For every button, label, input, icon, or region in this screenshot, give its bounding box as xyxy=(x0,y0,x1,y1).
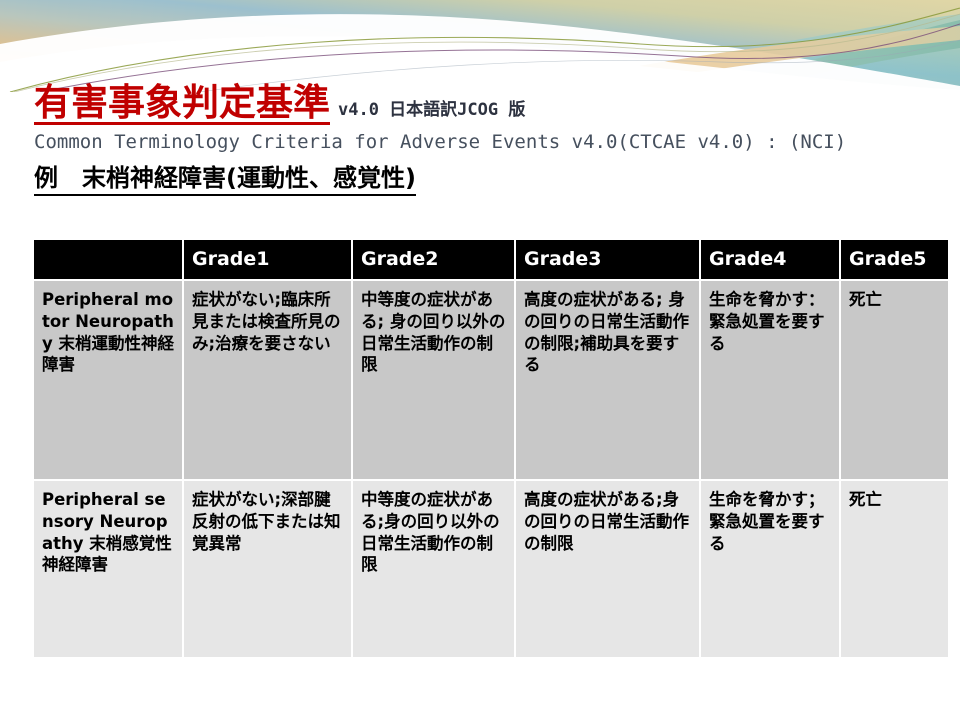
ctcae-grade-table: Grade1 Grade2 Grade3 Grade4 Grade5 Perip… xyxy=(34,240,948,659)
cell-grade3: 高度の症状がある; 身の回りの日常生活動作の制限;補助具を要する xyxy=(515,280,700,480)
term-name-text: Peripheral sensory Neuropathy 末梢感覚性神経障害 xyxy=(42,489,175,576)
cell-term-name: Peripheral motor Neuropathy 末梢運動性神経障害 xyxy=(34,280,183,480)
grade5-text: 死亡 xyxy=(849,489,941,511)
column-header-term xyxy=(34,240,183,280)
grade3-text: 高度の症状がある;身の回りの日常生活動作の制限 xyxy=(524,489,692,554)
grade1-text: 症状がない;深部腱反射の低下または知覚異常 xyxy=(192,489,344,554)
grade2-text: 中等度の症状がある;身の回り以外の日常生活動作の制限 xyxy=(361,489,507,576)
page-title: 有害事象判定基準 xyxy=(34,84,330,125)
grade3-text: 高度の症状がある; 身の回りの日常生活動作の制限;補助具を要する xyxy=(524,289,692,376)
cell-grade4: 生命を脅かす； 緊急処置を要する xyxy=(700,480,840,658)
term-name-text: Peripheral motor Neuropathy 末梢運動性神経障害 xyxy=(42,289,175,376)
grade5-text: 死亡 xyxy=(849,289,941,311)
column-header-grade5: Grade5 xyxy=(840,240,948,280)
title-version-label: v4.0 日本語訳JCOG 版 xyxy=(338,100,525,120)
example-heading: 例 末梢神経障害(運動性、感覚性) xyxy=(34,158,416,196)
table-row: Peripheral sensory Neuropathy 末梢感覚性神経障害 … xyxy=(34,480,948,658)
cell-grade1: 症状がない;深部腱反射の低下または知覚異常 xyxy=(183,480,352,658)
table-header-row: Grade1 Grade2 Grade3 Grade4 Grade5 xyxy=(34,240,948,280)
column-header-grade3: Grade3 xyxy=(515,240,700,280)
decorative-header-banner xyxy=(0,0,960,92)
slide-title-block: 有害事象判定基準v4.0 日本語訳JCOG 版 Common Terminolo… xyxy=(34,84,934,196)
grade4-text: 生命を脅かす； 緊急処置を要する xyxy=(709,489,832,554)
cell-term-name: Peripheral sensory Neuropathy 末梢感覚性神経障害 xyxy=(34,480,183,658)
grade4-text: 生命を脅かす：緊急処置を要する xyxy=(709,289,832,354)
subtitle-english: Common Terminology Criteria for Adverse … xyxy=(34,131,934,153)
column-header-grade1: Grade1 xyxy=(183,240,352,280)
cell-grade2: 中等度の症状がある; 身の回り以外の日常生活動作の制限 xyxy=(352,280,515,480)
grade2-text: 中等度の症状がある; 身の回り以外の日常生活動作の制限 xyxy=(361,289,507,376)
table-row: Peripheral motor Neuropathy 末梢運動性神経障害 症状… xyxy=(34,280,948,480)
grade1-text: 症状がない;臨床所見または検査所見のみ;治療を要さない xyxy=(192,289,344,354)
cell-grade1: 症状がない;臨床所見または検査所見のみ;治療を要さない xyxy=(183,280,352,480)
title-line-primary: 有害事象判定基準v4.0 日本語訳JCOG 版 xyxy=(34,84,934,125)
cell-grade5: 死亡 xyxy=(840,480,948,658)
cell-grade5: 死亡 xyxy=(840,280,948,480)
cell-grade4: 生命を脅かす：緊急処置を要する xyxy=(700,280,840,480)
cell-grade2: 中等度の症状がある;身の回り以外の日常生活動作の制限 xyxy=(352,480,515,658)
cell-grade3: 高度の症状がある;身の回りの日常生活動作の制限 xyxy=(515,480,700,658)
column-header-grade4: Grade4 xyxy=(700,240,840,280)
column-header-grade2: Grade2 xyxy=(352,240,515,280)
